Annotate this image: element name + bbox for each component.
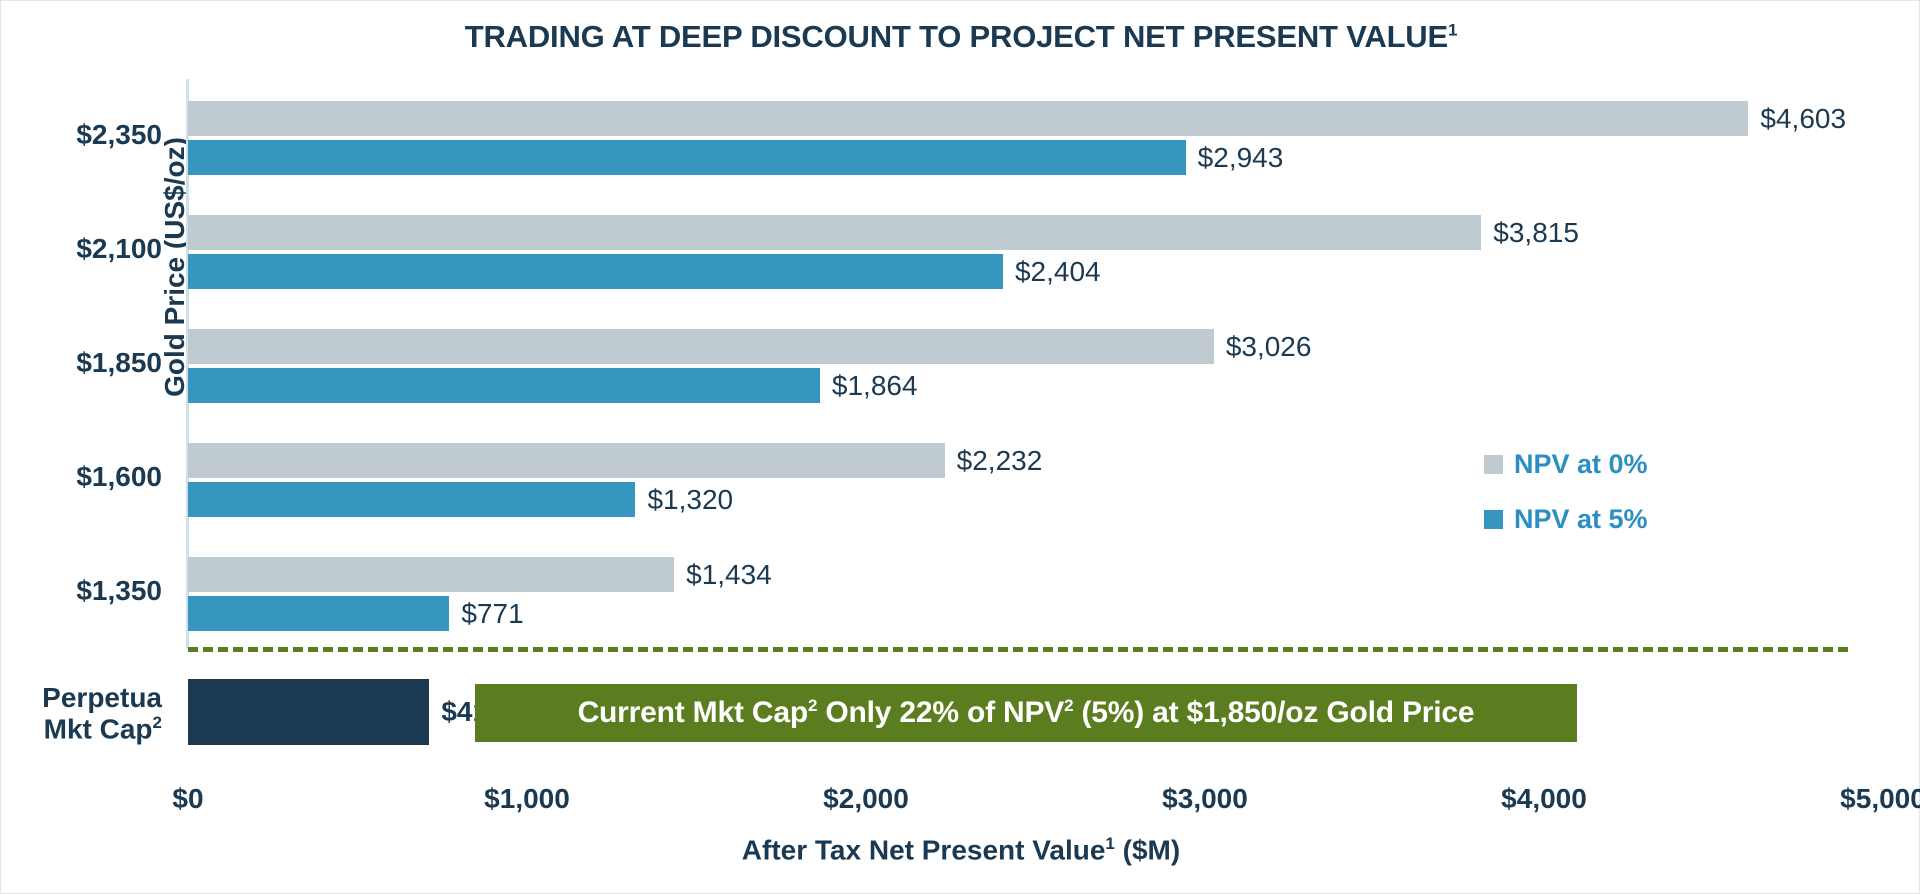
- bar-npv-5[interactable]: $771: [188, 596, 1883, 631]
- bar-rect: [188, 101, 1748, 136]
- market-cap-label-line2: Mkt Cap2: [42, 713, 162, 745]
- x-axis-title: After Tax Net Present Value1 ($M): [1, 834, 1920, 866]
- bar-group: $1,434$771: [188, 557, 1883, 631]
- bar-value-label: $3,815: [1493, 217, 1579, 249]
- bar-value-label: $2,232: [957, 445, 1043, 477]
- x-axis-tick-label: $5,000: [1840, 783, 1920, 815]
- x-axis-tick-label: $2,000: [823, 783, 909, 815]
- legend-swatch-icon: [1484, 510, 1503, 529]
- callout-banner: Current Mkt Cap2 Only 22% of NPV2 (5%) a…: [475, 684, 1577, 742]
- y-axis-category-label: $1,350: [76, 575, 162, 606]
- bar-group: $3,026$1,864: [188, 329, 1883, 403]
- bar-rect: [188, 482, 635, 517]
- bar-value-label: $1,864: [832, 370, 918, 402]
- callout-text-part1: Current Mkt Cap: [578, 696, 808, 729]
- bar-value-label: $1,434: [686, 559, 772, 591]
- x-axis-tick-label: $4,000: [1501, 783, 1587, 815]
- separator-dashed-line: [188, 647, 1848, 652]
- bar-npv-0[interactable]: $4,603: [188, 101, 1883, 136]
- x-axis-tick-label: $3,000: [1162, 783, 1248, 815]
- market-cap-bar[interactable]: [188, 679, 429, 745]
- x-axis-tick-label: $1,000: [484, 783, 570, 815]
- market-cap-category-label: PerpetuaMkt Cap2: [42, 682, 162, 745]
- bar-rect: [188, 140, 1186, 175]
- bar-npv-0[interactable]: $1,434: [188, 557, 1883, 592]
- y-axis-category-label: $1,600: [76, 461, 162, 492]
- bar-value-label: $2,943: [1198, 142, 1284, 174]
- bar-rect: [188, 443, 945, 478]
- x-axis-title-text: After Tax Net Present Value: [742, 834, 1106, 865]
- callout-footnote-marker-1: 2: [808, 696, 817, 715]
- chart-title-text: TRADING AT DEEP DISCOUNT TO PROJECT NET …: [465, 19, 1448, 54]
- bar-rect: [188, 329, 1214, 364]
- callout-footnote-marker-2: 2: [1064, 696, 1073, 715]
- y-axis-category-label: $2,100: [76, 233, 162, 264]
- bar-npv-0[interactable]: $3,815: [188, 215, 1883, 250]
- x-axis-title-unit: ($M): [1115, 834, 1180, 865]
- chart-legend: NPV at 0%NPV at 5%: [1484, 449, 1648, 559]
- chart-canvas: TRADING AT DEEP DISCOUNT TO PROJECT NET …: [0, 0, 1920, 894]
- bar-rect: [188, 368, 820, 403]
- x-axis-ticks: $0$1,000$2,000$3,000$4,000$5,000: [1, 783, 1920, 823]
- callout-text-part3: (5%) at $1,850/oz Gold Price: [1073, 696, 1474, 729]
- bar-rect: [188, 254, 1003, 289]
- bar-npv-5[interactable]: $1,864: [188, 368, 1883, 403]
- legend-label: NPV at 0%: [1514, 449, 1648, 480]
- bar-value-label: $1,320: [647, 484, 733, 516]
- x-axis-tick-label: $0: [172, 783, 203, 815]
- legend-swatch-icon: [1484, 455, 1503, 474]
- bar-value-label: $2,404: [1015, 256, 1101, 288]
- bar-group: $3,815$2,404: [188, 215, 1883, 289]
- legend-item[interactable]: NPV at 5%: [1484, 504, 1648, 535]
- bar-value-label: $771: [461, 598, 523, 630]
- bar-npv-5[interactable]: $2,943: [188, 140, 1883, 175]
- x-axis-footnote-marker: 1: [1105, 834, 1114, 853]
- plot-area: $4,603$2,943$3,815$2,404$3,026$1,864$2,2…: [188, 79, 1883, 649]
- callout-text: Current Mkt Cap2 Only 22% of NPV2 (5%) a…: [578, 696, 1475, 730]
- legend-item[interactable]: NPV at 0%: [1484, 449, 1648, 480]
- bar-value-label: $4,603: [1760, 103, 1846, 135]
- bar-rect: [188, 596, 449, 631]
- bar-npv-0[interactable]: $3,026: [188, 329, 1883, 364]
- bar-npv-5[interactable]: $2,404: [188, 254, 1883, 289]
- chart-title-footnote-marker: 1: [1448, 21, 1457, 40]
- page-title: TRADING AT DEEP DISCOUNT TO PROJECT NET …: [1, 19, 1920, 55]
- y-axis-category-label: $1,850: [76, 347, 162, 378]
- bar-value-label: $3,026: [1226, 331, 1312, 363]
- bar-group: $4,603$2,943: [188, 101, 1883, 175]
- y-axis-category-label: $2,350: [76, 119, 162, 150]
- bar-rect: [188, 215, 1481, 250]
- bar-rect: [188, 557, 674, 592]
- legend-label: NPV at 5%: [1514, 504, 1648, 535]
- market-cap-label-line1: Perpetua: [42, 682, 162, 713]
- callout-text-part2: Only 22% of NPV: [817, 696, 1064, 729]
